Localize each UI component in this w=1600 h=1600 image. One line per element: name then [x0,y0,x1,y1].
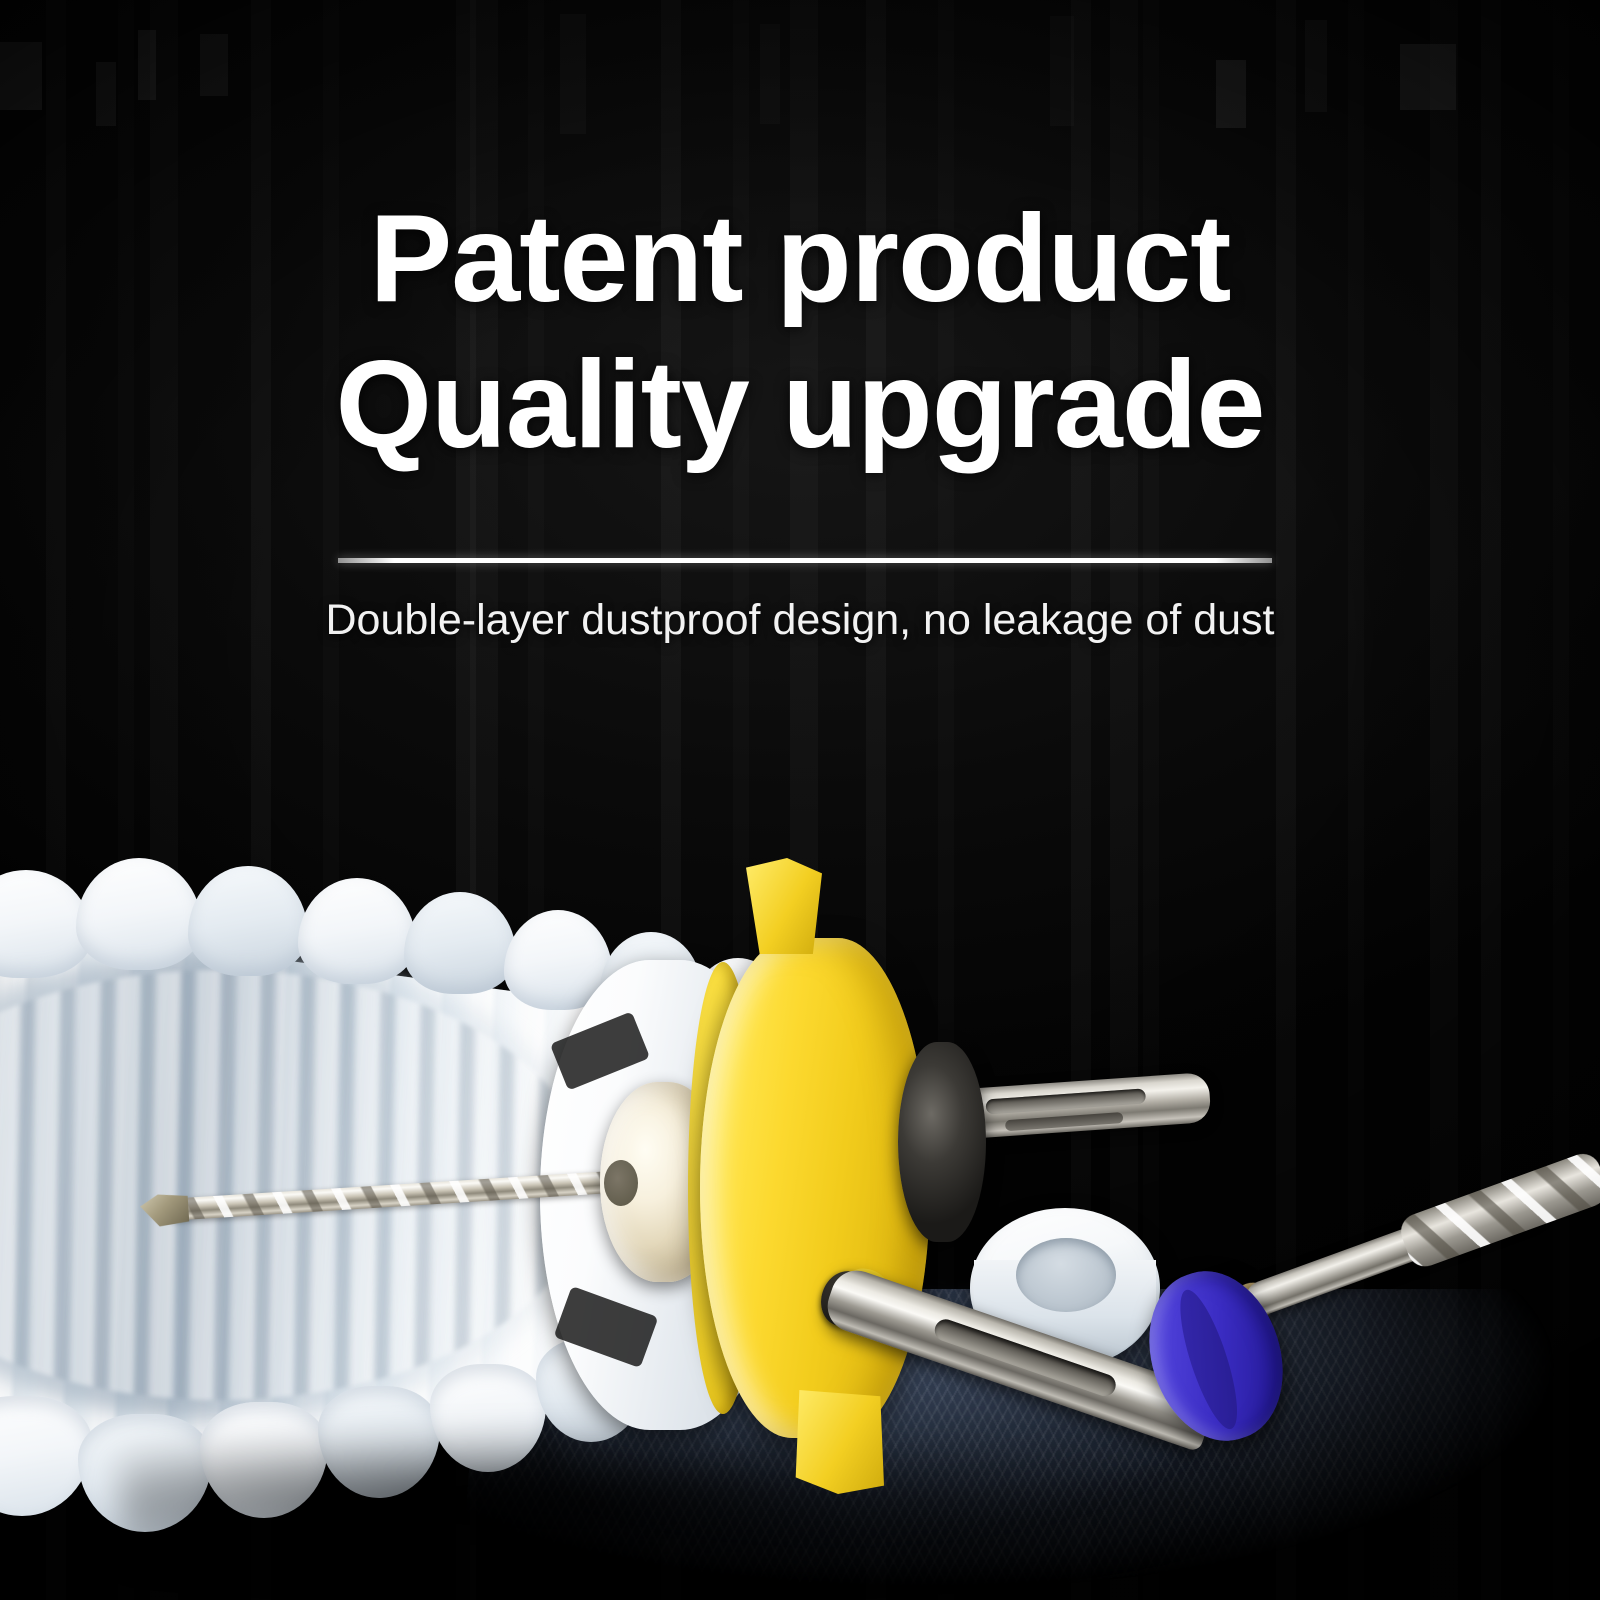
drill-carbide-tip [140,1193,190,1228]
sds-drill-shank-upper [957,1053,1230,1155]
product-photo [0,830,1600,1600]
ivory-plug-bore [604,1160,638,1206]
yellow-hub-tab-bottom [792,1390,884,1494]
headline-block: Patent product Quality upgrade [0,186,1600,479]
headline-line-1: Patent product [0,186,1600,332]
headline-divider [338,558,1272,563]
headline-line-2: Quality upgrade [0,332,1600,478]
yellow-hub-tab-top [746,858,822,954]
product-drop-shadow [120,1430,1240,1580]
drill-flutes [1396,1149,1600,1272]
subtitle-text: Double-layer dustproof design, no leakag… [0,596,1600,645]
product-banner: Patent product Quality upgrade Double-la… [0,0,1600,1600]
